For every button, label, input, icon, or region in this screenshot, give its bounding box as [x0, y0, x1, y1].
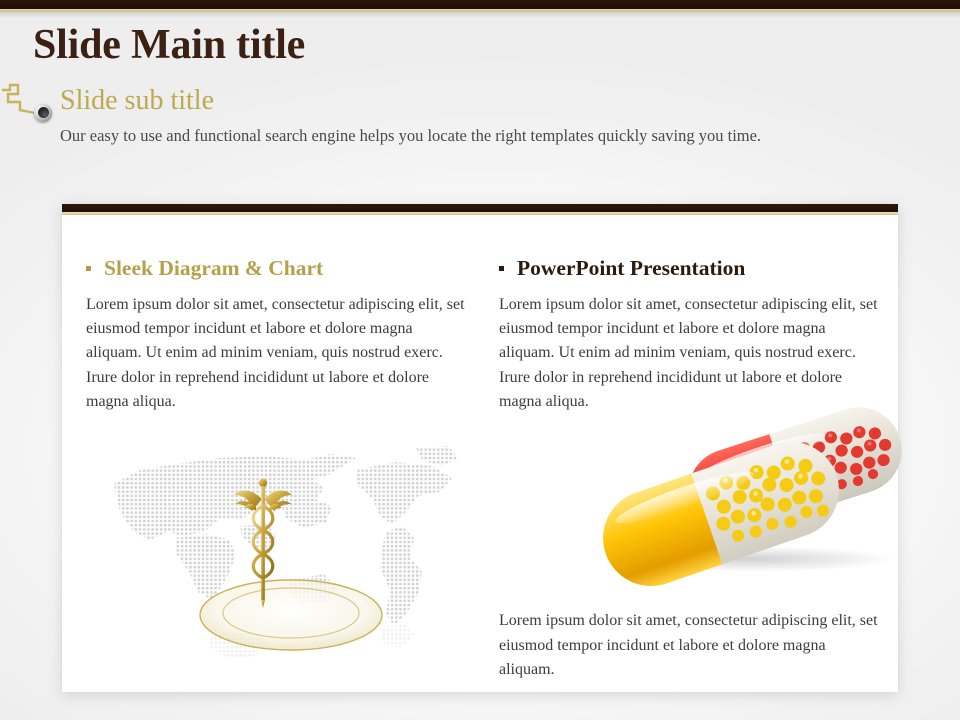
gold-squiggle-pin-icon — [0, 82, 60, 127]
world-map-caduceus-illustration — [80, 440, 480, 690]
column-left-title: Sleek Diagram & Chart — [104, 257, 323, 281]
content-card: Sleek Diagram & Chart Lorem ipsum dolor … — [62, 204, 898, 692]
top-accent-bar-dark — [0, 0, 960, 9]
capsule-pills-illustration — [577, 426, 957, 591]
column-right-title: PowerPoint Presentation — [517, 257, 745, 281]
header-description: Our easy to use and functional search en… — [60, 124, 820, 148]
column-right-paragraph-1: Lorem ipsum dolor sit amet, consectetur … — [499, 293, 880, 415]
card-columns: Sleek Diagram & Chart Lorem ipsum dolor … — [62, 215, 898, 692]
square-bullet-icon — [86, 266, 91, 271]
square-bullet-icon — [499, 266, 504, 271]
column-right-paragraph-2: Lorem ipsum dolor sit amet, consectetur … — [499, 609, 880, 682]
column-left-paragraph: Lorem ipsum dolor sit amet, consectetur … — [86, 293, 465, 415]
page-title: Slide Main title — [33, 22, 305, 69]
page-subtitle: Slide sub title — [60, 84, 214, 118]
slide-header: Slide Main title Slide sub title Our eas… — [0, 14, 960, 194]
column-right-heading: PowerPoint Presentation — [499, 257, 880, 281]
card-accent-bar-dark — [62, 204, 898, 212]
column-left-heading: Sleek Diagram & Chart — [86, 257, 465, 281]
column-right: PowerPoint Presentation Lorem ipsum dolo… — [487, 215, 898, 692]
caduceus-icon — [232, 476, 294, 608]
pin-knob-icon — [34, 104, 52, 122]
column-left: Sleek Diagram & Chart Lorem ipsum dolor … — [62, 215, 487, 692]
slide-canvas: Slide Main title Slide sub title Our eas… — [0, 0, 960, 720]
